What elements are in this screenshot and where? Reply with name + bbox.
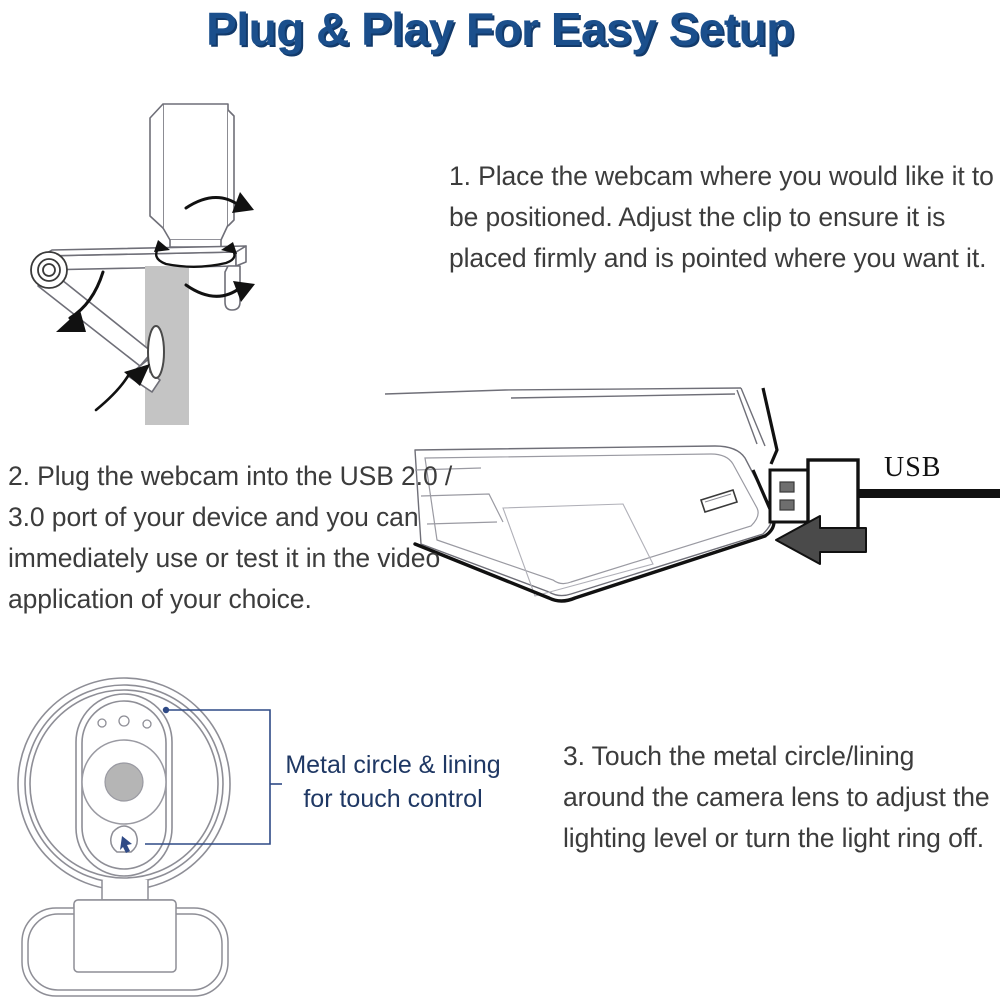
callout-label: Metal circle & lining for touch control [268,748,518,816]
clip-mount-illustration [0,80,300,425]
leader-anchor-dot [163,707,169,713]
webcam-front-illustration [14,672,304,1000]
step-3-text: 3. Touch the metal circle/lining around … [563,736,993,859]
usb-cable [858,489,1000,498]
camera-lens [105,763,143,801]
callout-line-1: Metal circle & lining [268,748,518,782]
usb-label: USB [884,452,941,484]
step-2-text: 2. Plug the webcam into the USB 2.0 / 3.… [8,456,478,620]
page-title: Plug & Play For Easy Setup [0,2,1000,56]
step-1-text: 1. Place the webcam where you would like… [449,156,994,279]
instruction-graphic: Plug & Play For Easy Setup [0,0,1000,1000]
callout-line-2: for touch control [268,782,518,816]
